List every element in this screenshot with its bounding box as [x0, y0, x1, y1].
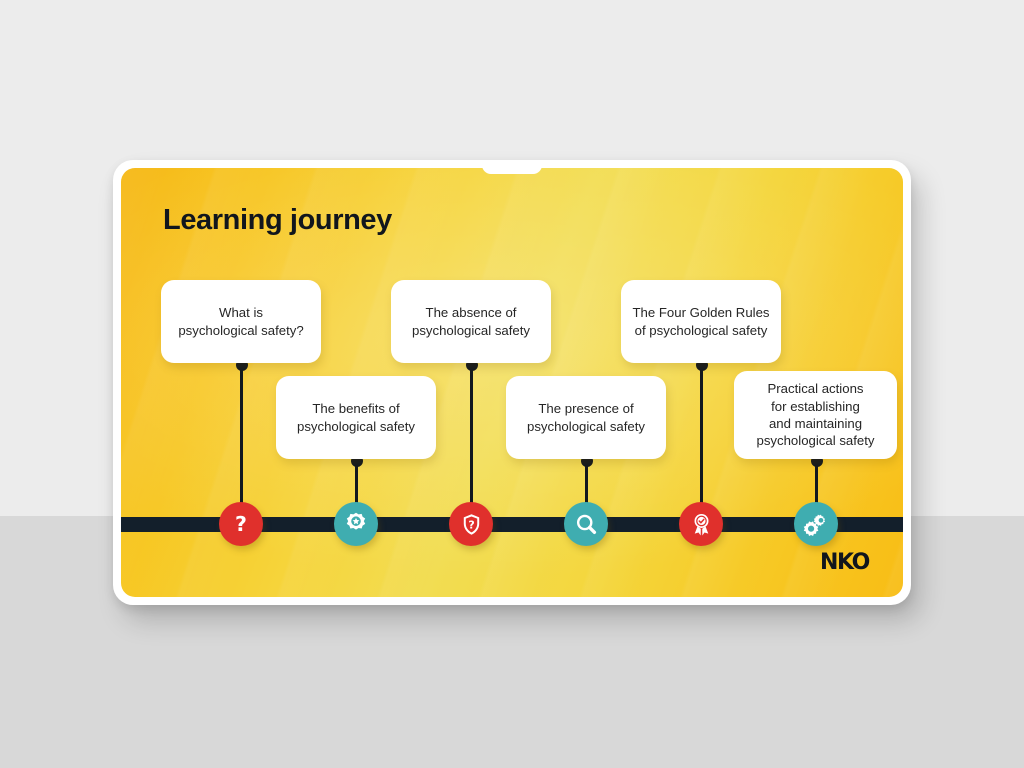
timeline-card-5[interactable]: The Four Golden Rules of psychological s…	[621, 280, 781, 363]
connector-line-5	[700, 364, 703, 524]
timeline-node-5[interactable]	[679, 502, 723, 546]
timeline-card-3[interactable]: The absence of psychological safety	[391, 280, 551, 363]
timeline-node-6[interactable]	[794, 502, 838, 546]
timeline-node-4[interactable]	[564, 502, 608, 546]
timeline-card-4-text: The presence of psychological safety	[527, 400, 645, 435]
brand-logo: NKO	[820, 550, 869, 575]
timeline-card-1-text: What is psychological safety?	[178, 304, 303, 339]
magnifier-icon	[574, 512, 599, 537]
timeline-card-6-text: Practical actions for establishing and m…	[756, 380, 874, 450]
svg-text:?: ?	[468, 518, 474, 531]
page-title: Learning journey	[163, 204, 392, 237]
connector-line-1	[240, 364, 243, 524]
svg-text:?: ?	[235, 512, 247, 536]
gears-icon	[803, 511, 829, 537]
timeline-card-5-text: The Four Golden Rules of psychological s…	[632, 304, 769, 339]
device-frame: Learning journey What is psychological s…	[113, 160, 911, 605]
timeline-card-2[interactable]: The benefits of psychological safety	[276, 376, 436, 459]
question-mark-icon: ?	[228, 511, 254, 537]
timeline-node-1[interactable]: ?	[219, 502, 263, 546]
timeline-node-3[interactable]: ?	[449, 502, 493, 546]
timeline-node-2[interactable]	[334, 502, 378, 546]
timeline-card-4[interactable]: The presence of psychological safety	[506, 376, 666, 459]
ribbon-check-icon	[689, 512, 714, 537]
timeline-card-6[interactable]: Practical actions for establishing and m…	[734, 371, 897, 459]
timeline-card-3-text: The absence of psychological safety	[412, 304, 530, 339]
timeline-card-1[interactable]: What is psychological safety?	[161, 280, 321, 363]
device-camera-notch	[482, 160, 542, 174]
award-badge-icon	[343, 511, 369, 537]
screenshot-scene: Learning journey What is psychological s…	[0, 0, 1024, 768]
timeline-card-2-text: The benefits of psychological safety	[297, 400, 415, 435]
presentation-slide: Learning journey What is psychological s…	[121, 168, 903, 597]
shield-question-icon: ?	[459, 512, 484, 537]
connector-line-3	[470, 364, 473, 524]
